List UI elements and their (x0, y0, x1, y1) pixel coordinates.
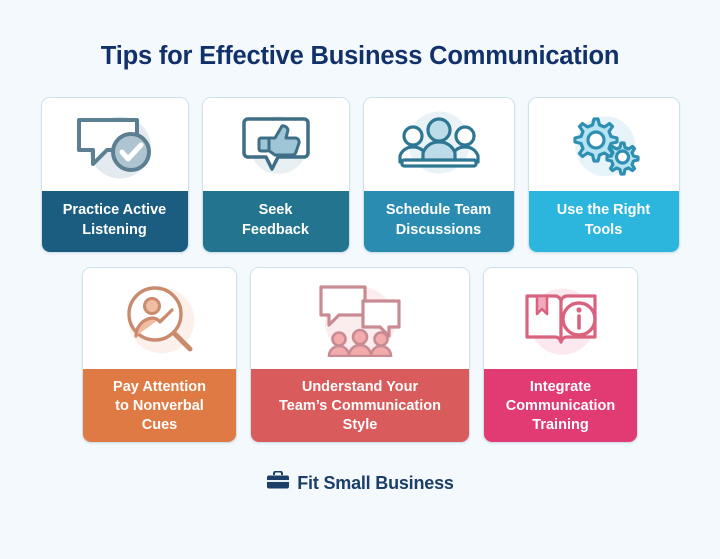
magnifier-person-icon (122, 283, 198, 355)
book-info-icon (521, 284, 601, 354)
tip-footer: Schedule Team Discussions (364, 191, 514, 252)
tip-card-pay-attention-to-nonverbal-cues[interactable]: Pay Attention to Nonverbal Cues (82, 267, 237, 443)
tip-label-line3: Style (279, 416, 441, 435)
tip-footer: Use the Right Tools (529, 191, 679, 252)
tip-label-line2: Tools (557, 221, 650, 240)
team-meeting-icon (393, 114, 485, 176)
tip-label-line1: Seek (242, 201, 309, 220)
tips-row-top: Practice Active Listening Seek (41, 97, 680, 253)
tip-label-line1: Integrate (506, 378, 616, 397)
tip-footer: Integrate Communication Training (484, 369, 637, 443)
tip-card-seek-feedback[interactable]: Seek Feedback (202, 97, 350, 253)
tip-icon-container (203, 98, 349, 191)
tip-card-use-the-right-tools[interactable]: Use the Right Tools (528, 97, 680, 253)
thumbs-up-bubble-icon (240, 114, 312, 176)
tip-label-line2: Listening (63, 221, 166, 240)
tip-icon-container (529, 98, 679, 191)
tip-label-line2: to Nonverbal (113, 397, 206, 416)
tip-footer: Pay Attention to Nonverbal Cues (83, 369, 236, 443)
tip-label-line2: Communication (506, 397, 616, 416)
tip-footer: Practice Active Listening (42, 191, 188, 252)
brand-name: Fit Small Business (297, 473, 453, 494)
tip-card-schedule-team-discussions[interactable]: Schedule Team Discussions (363, 97, 515, 253)
tip-label-line1: Use the Right (557, 201, 650, 220)
tips-row-bottom: Pay Attention to Nonverbal Cues (82, 267, 638, 443)
tip-label-line1: Schedule Team (386, 201, 491, 220)
tip-card-integrate-communication-training[interactable]: Integrate Communication Training (483, 267, 638, 443)
tip-label-line1: Understand Your (279, 378, 441, 397)
tip-label-line2: Team’s Communication (279, 397, 441, 416)
tip-label-line1: Practice Active (63, 201, 166, 220)
tip-icon-container (364, 98, 514, 191)
speech-bubble-check-icon (73, 114, 157, 176)
tip-footer: Understand Your Team’s Communication Sty… (251, 369, 469, 443)
tip-icon-container (83, 268, 236, 369)
tip-card-practice-active-listening[interactable]: Practice Active Listening (41, 97, 189, 253)
tip-icon-container (251, 268, 469, 369)
infographic-canvas: Tips for Effective Business Communicatio… (0, 0, 720, 559)
brand-logo: Fit Small Business (266, 471, 453, 496)
tip-label-line2: Feedback (242, 221, 309, 240)
tip-footer: Seek Feedback (203, 191, 349, 252)
tip-icon-container (42, 98, 188, 191)
tip-label-line2: Discussions (386, 221, 491, 240)
gears-icon (564, 113, 644, 177)
tip-label-line3: Training (506, 416, 616, 435)
tip-icon-container (484, 268, 637, 369)
page-title: Tips for Effective Business Communicatio… (101, 42, 619, 71)
speech-bubbles-people-icon (317, 281, 403, 357)
tip-card-understand-your-teams-communication-style[interactable]: Understand Your Team’s Communication Sty… (250, 267, 470, 443)
briefcase-icon (266, 471, 290, 496)
tip-label-line3: Cues (113, 416, 206, 435)
tip-label-line1: Pay Attention (113, 378, 206, 397)
